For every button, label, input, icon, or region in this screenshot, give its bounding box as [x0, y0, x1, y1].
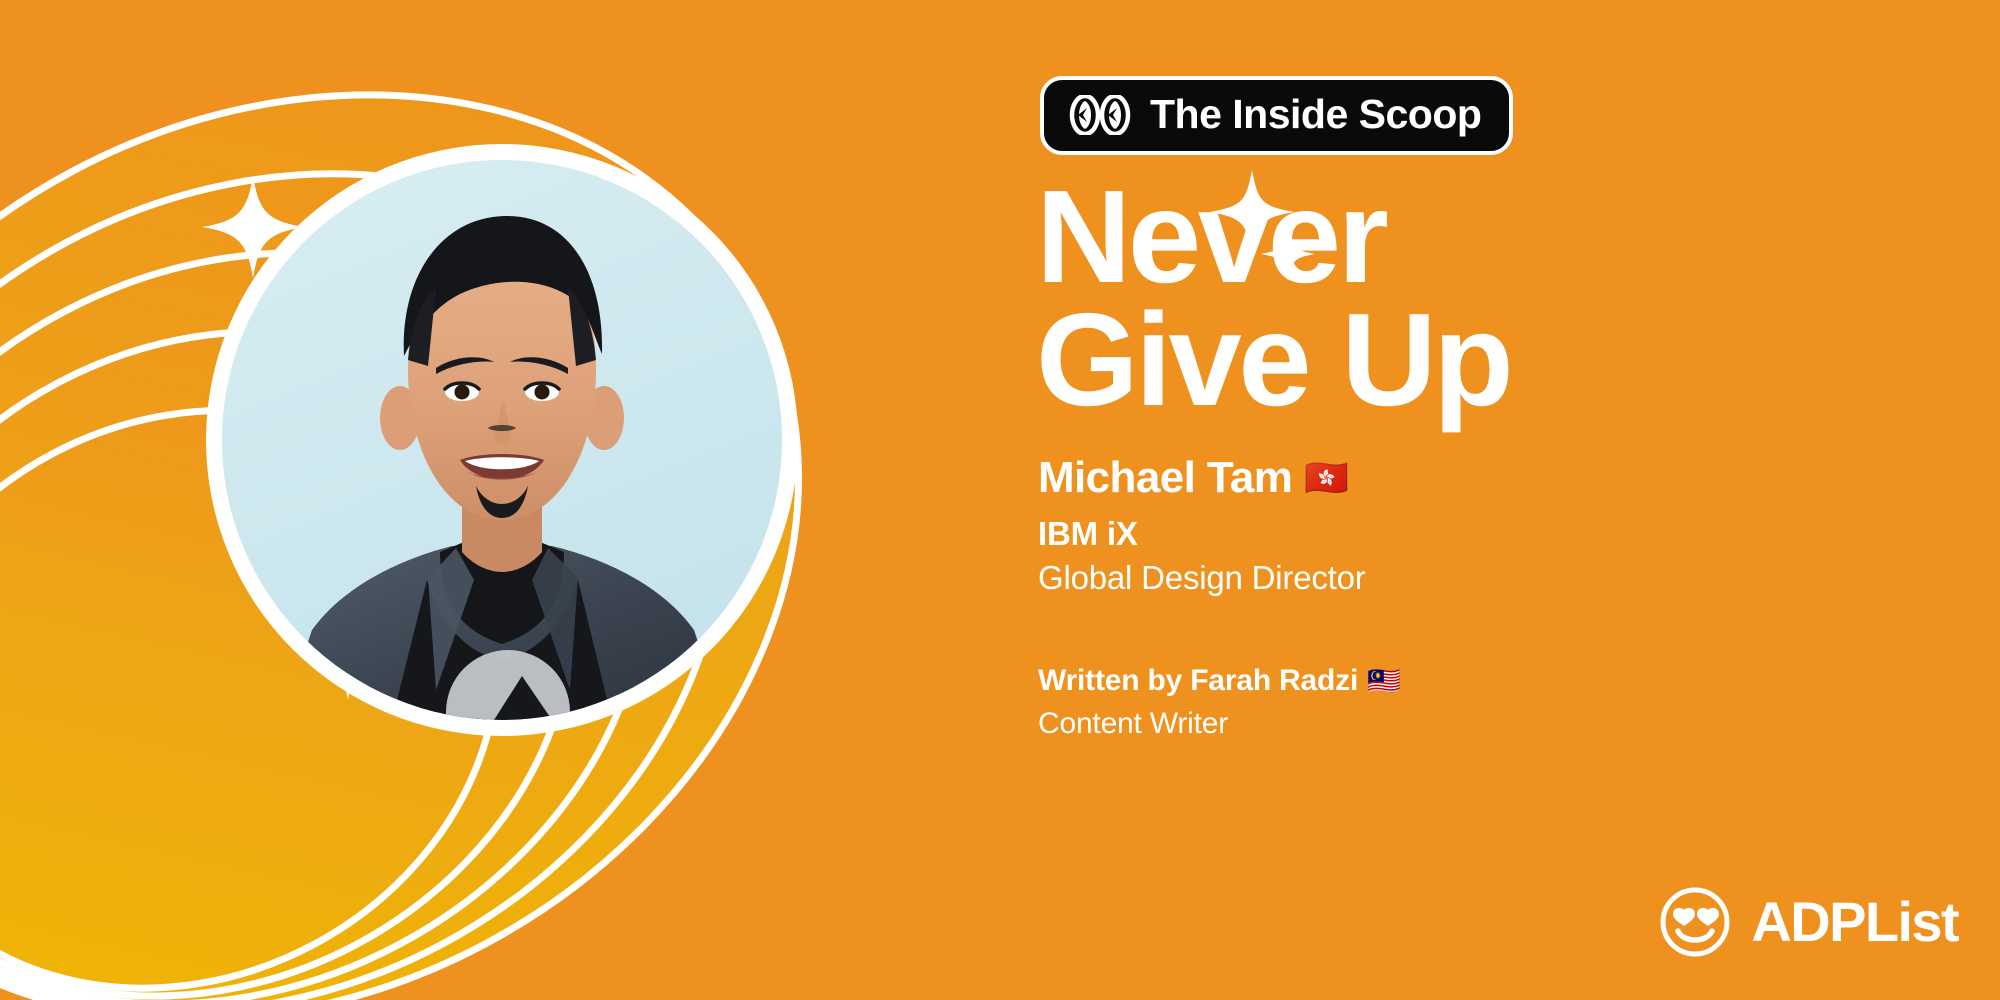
adplist-logo[interactable]: ADPList — [1659, 886, 1958, 958]
article-credits: Written by Farah Radzi 🇲🇾 Content Writer — [1038, 660, 1401, 745]
poster-content: The Inside Scoop Never Give Up Michael T… — [1020, 0, 2000, 1000]
adplist-wordmark: ADPList — [1751, 894, 1958, 950]
series-badge-label: The Inside Scoop — [1150, 94, 1481, 135]
series-badge[interactable]: The Inside Scoop — [1040, 76, 1513, 155]
speaker-role: Global Design Director — [1038, 556, 1366, 601]
speaker-name: Michael Tam — [1038, 452, 1292, 504]
speaker-portrait — [222, 160, 782, 720]
written-by-label: Written by Farah Radzi — [1038, 660, 1358, 703]
written-by-row: Written by Farah Radzi 🇲🇾 — [1038, 660, 1401, 703]
speaker-byline: Michael Tam 🇭🇰 IBM iX Global Design Dire… — [1038, 452, 1366, 601]
malaysia-flag-icon: 🇲🇾 — [1367, 668, 1400, 695]
hong-kong-flag-icon: 🇭🇰 — [1304, 460, 1348, 496]
inside-scoop-poster: The Inside Scoop Never Give Up Michael T… — [0, 0, 2000, 1000]
eyes-icon — [1068, 95, 1132, 135]
speaker-name-row: Michael Tam 🇭🇰 — [1038, 452, 1366, 504]
portrait-illustration — [222, 160, 782, 720]
smiley-heart-eyes-icon — [1659, 886, 1731, 958]
sparkle-icon — [1258, 224, 1318, 284]
speaker-company: IBM iX — [1038, 512, 1366, 557]
writer-role: Content Writer — [1038, 703, 1401, 746]
